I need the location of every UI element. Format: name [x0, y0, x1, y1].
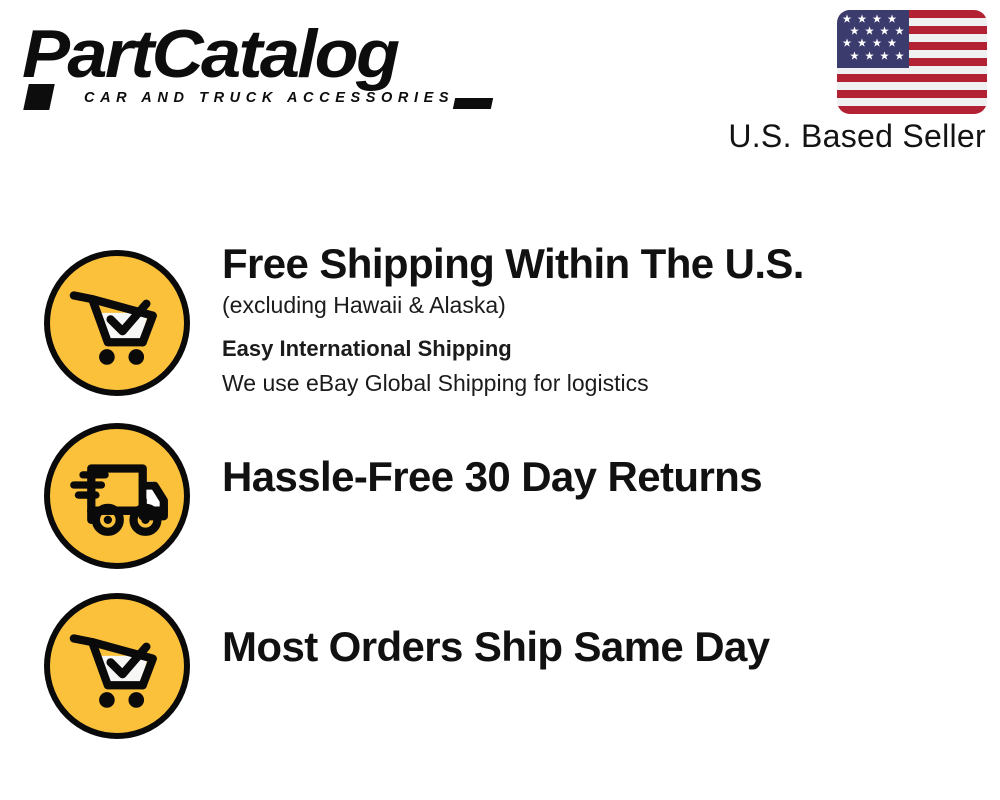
feature-text-block: Hassle-Free 30 Day Returns: [222, 453, 962, 501]
page-header: PartCatalog CAR AND TRUCK ACCESSORIES: [0, 0, 1000, 170]
delivery-truck-icon: [44, 423, 190, 569]
feature-row: Hassle-Free 30 Day Returns: [0, 423, 1000, 573]
feature-secondary-title: Easy International Shipping: [222, 332, 962, 366]
feature-title: Hassle-Free 30 Day Returns: [222, 453, 962, 501]
feature-text-block: Free Shipping Within The U.S. (excluding…: [222, 240, 962, 400]
shopping-cart-check-icon: [44, 250, 190, 396]
us-flag-icon: [837, 10, 987, 114]
feature-subtitle: (excluding Hawaii & Alaska): [222, 288, 962, 322]
shopping-cart-check-icon: [44, 593, 190, 739]
seller-location-label: U.S. Based Seller: [728, 118, 986, 155]
feature-row: Most Orders Ship Same Day: [0, 593, 1000, 743]
feature-text-block: Most Orders Ship Same Day: [222, 623, 962, 671]
feature-row: Free Shipping Within The U.S. (excluding…: [0, 240, 1000, 415]
feature-title: Most Orders Ship Same Day: [222, 623, 962, 671]
brand-wordmark: PartCatalog: [22, 18, 397, 90]
brand-tagline: CAR AND TRUCK ACCESSORIES: [84, 90, 454, 106]
feature-title: Free Shipping Within The U.S.: [222, 240, 962, 288]
logo-accent-right: [453, 98, 493, 109]
feature-secondary-subtitle: We use eBay Global Shipping for logistic…: [222, 366, 962, 400]
brand-logo[interactable]: PartCatalog CAR AND TRUCK ACCESSORIES: [22, 18, 492, 113]
